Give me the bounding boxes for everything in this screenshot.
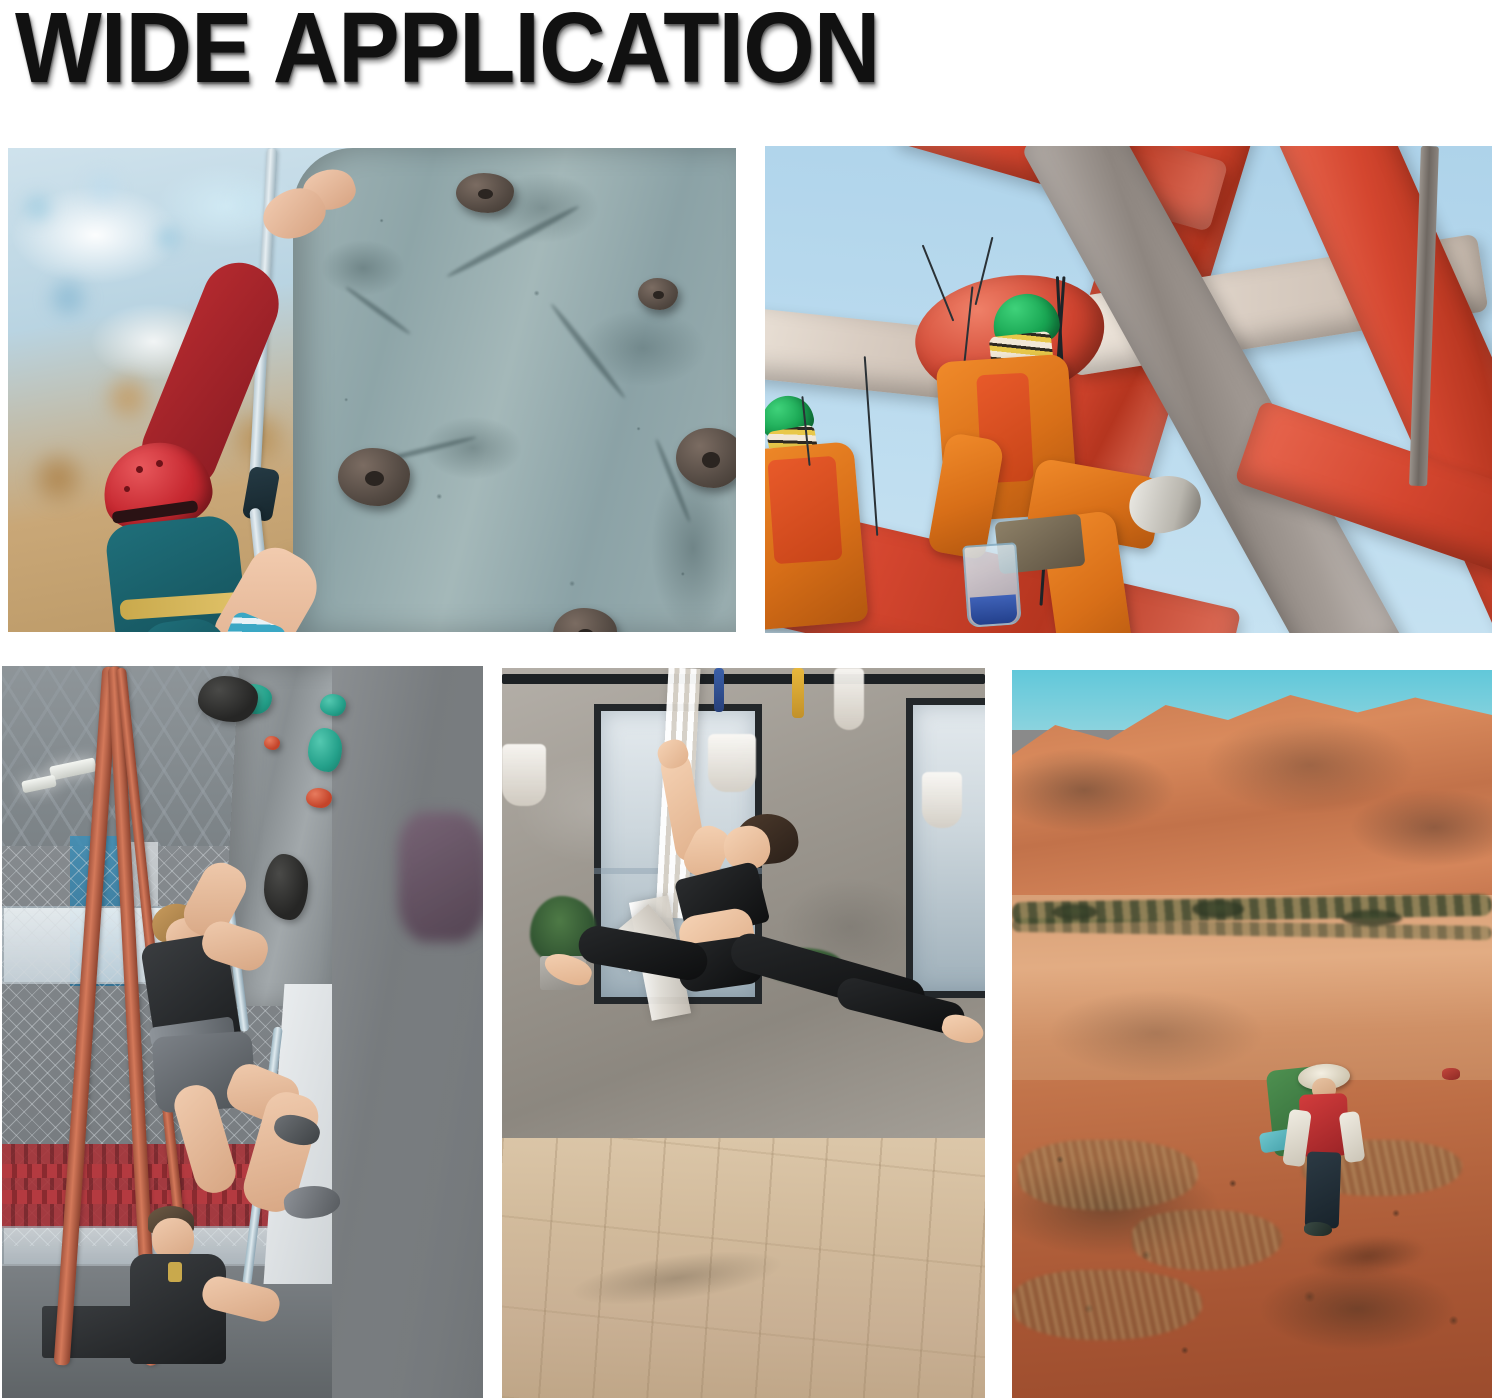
climbing-hold-dark: [264, 854, 308, 920]
panel-aerial-yoga[interactable]: Aerial Yoga: [502, 668, 985, 1398]
scene-aerial-yoga-studio: [502, 668, 985, 1398]
panel-hiking[interactable]: Hiking: [1012, 670, 1492, 1398]
climbing-hold-teal: [320, 694, 346, 716]
page-title: WIDE APPLICATION: [15, 0, 879, 101]
desert-shrub: [1052, 904, 1098, 920]
desert-shrub: [1342, 910, 1402, 926]
paint-bucket: [962, 542, 1022, 628]
yellow-strap: [792, 668, 804, 718]
climbing-hold: [456, 173, 514, 213]
climbing-hold-dark: [198, 676, 258, 722]
concrete-pillar: [332, 666, 483, 1398]
panel-climbing[interactable]: Climbing: [8, 148, 736, 632]
panel-indoor-climbing[interactable]: Indoor rock climbing: [2, 666, 483, 1398]
hiking-boot: [1304, 1222, 1332, 1236]
scene-indoor-climbing-gym: [2, 666, 483, 1398]
studio-window-right: [906, 698, 985, 998]
blurred-foreground-object: [398, 812, 483, 942]
climbing-hold-teal: [308, 728, 342, 772]
dry-grass-patch: [1012, 1270, 1202, 1340]
scene-rope-access-protect: [765, 146, 1492, 633]
helmet-vent: [136, 466, 143, 473]
hanging-cloth: [502, 744, 546, 806]
helmet-vent: [156, 460, 163, 467]
hanging-cloth: [708, 734, 756, 792]
scene-outdoor-climbing: [8, 148, 736, 632]
hanging-hammock-bundle: [834, 668, 864, 730]
desert-shrub: [1192, 900, 1244, 918]
rock-wall-texture: [293, 148, 736, 632]
belayer-necklace: [168, 1262, 182, 1282]
climbing-hold-red: [264, 736, 280, 750]
hanging-cloth: [922, 772, 962, 828]
climbing-hold: [338, 448, 410, 506]
dry-grass-patch: [1018, 1140, 1198, 1210]
hiker-pants: [1305, 1151, 1342, 1228]
helmet-vent: [124, 486, 130, 492]
scene-desert-hiking: [1012, 670, 1492, 1398]
dry-grass-patch: [1132, 1210, 1282, 1270]
ceiling-rail: [502, 674, 985, 684]
blue-strap: [714, 668, 724, 712]
panel-protect[interactable]: Protect: [765, 146, 1492, 633]
safety-vest-second: [767, 456, 842, 564]
climbing-hold: [638, 278, 678, 310]
climbing-hold-red: [306, 788, 332, 808]
distant-hiker: [1442, 1068, 1460, 1080]
